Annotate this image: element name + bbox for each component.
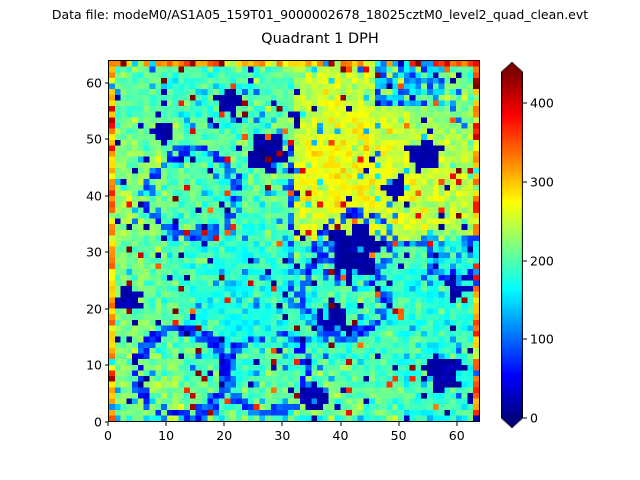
x-tick-mark	[398, 422, 399, 426]
y-tick-label: 30	[68, 245, 102, 260]
colorbar-tick-mark	[523, 182, 527, 183]
x-tick-mark	[224, 422, 225, 426]
figure-canvas: Data file: modeM0/AS1A05_159T01_90000026…	[0, 0, 640, 480]
colorbar-gradient	[501, 62, 523, 428]
x-tick-label: 50	[379, 428, 419, 443]
colorbar-tick-label: 100	[530, 332, 554, 347]
y-tick-mark	[105, 365, 109, 366]
y-tick-mark	[105, 82, 109, 83]
y-tick-mark	[105, 195, 109, 196]
colorbar-tick-mark	[523, 260, 527, 261]
y-tick-label: 20	[68, 301, 102, 316]
data-file-label: Data file: modeM0/AS1A05_159T01_90000026…	[0, 7, 640, 22]
x-tick-label: 0	[88, 428, 128, 443]
x-tick-label: 30	[262, 428, 302, 443]
colorbar-tick-mark	[523, 103, 527, 104]
colorbar-tick-label: 300	[530, 175, 554, 190]
colorbar-tick-label: 0	[530, 411, 538, 426]
x-tick-mark	[340, 422, 341, 426]
colorbar-tick-mark	[523, 418, 527, 419]
x-tick-label: 10	[146, 428, 186, 443]
heatmap-axes[interactable]	[108, 60, 480, 422]
colorbar-tick-mark	[523, 339, 527, 340]
x-tick-label: 60	[437, 428, 477, 443]
y-tick-mark	[105, 139, 109, 140]
x-tick-mark	[166, 422, 167, 426]
y-tick-mark	[105, 308, 109, 309]
x-tick-label: 20	[204, 428, 244, 443]
y-tick-label: 40	[68, 188, 102, 203]
y-tick-label: 50	[68, 132, 102, 147]
y-tick-label: 10	[68, 358, 102, 373]
page-title: Quadrant 1 DPH	[0, 31, 640, 47]
y-tick-label: 0	[68, 415, 102, 430]
colorbar[interactable]	[501, 62, 523, 428]
x-tick-mark	[456, 422, 457, 426]
x-tick-mark	[108, 422, 109, 426]
x-tick-label: 40	[321, 428, 361, 443]
colorbar-tick-label: 200	[530, 253, 554, 268]
heatmap-image[interactable]	[109, 61, 479, 421]
y-tick-label: 60	[68, 75, 102, 90]
y-tick-mark	[105, 252, 109, 253]
x-tick-mark	[282, 422, 283, 426]
colorbar-tick-label: 400	[530, 96, 554, 111]
y-tick-mark	[105, 422, 109, 423]
